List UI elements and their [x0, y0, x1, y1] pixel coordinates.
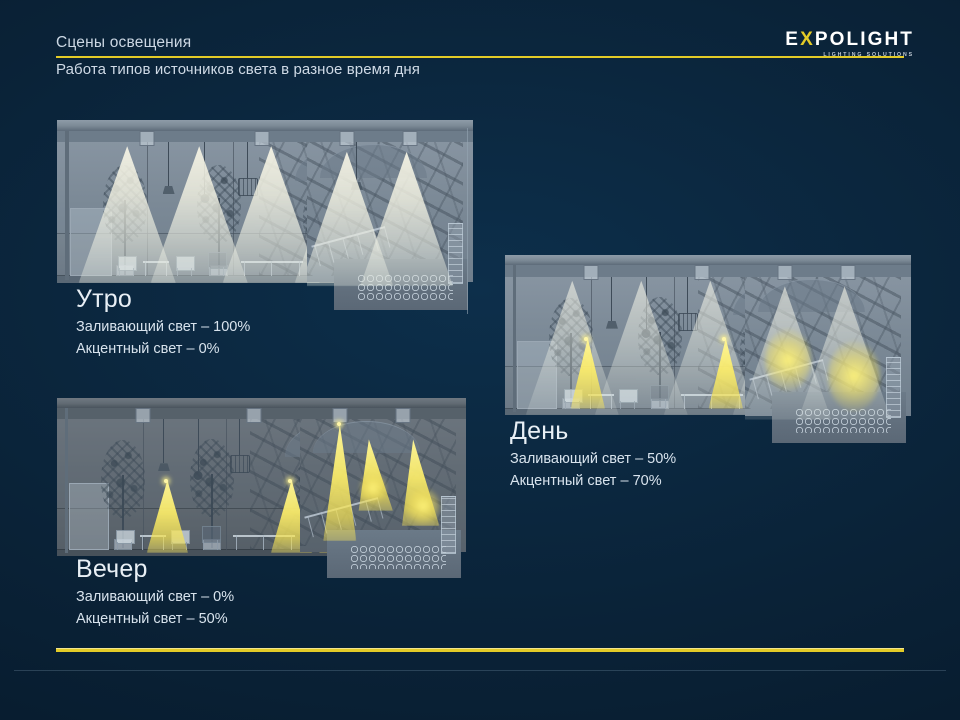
table: [588, 394, 614, 409]
chair: [171, 530, 188, 550]
accent-source-point: [164, 479, 168, 483]
service-tower: [886, 357, 901, 418]
ceiling-fixture-box: [246, 408, 261, 423]
chair: [116, 530, 133, 550]
chair: [650, 385, 667, 409]
ceiling-fixture-box: [584, 265, 599, 280]
caption-evening: Вечер Заливающий свет – 0% Акцентный све…: [76, 556, 234, 630]
flood-value-morning: Заливающий свет – 100%: [76, 316, 250, 338]
brand-logo: EXPOLIGHT LIGHTING SOLUTIONS: [785, 30, 914, 58]
edge-mullion: [467, 128, 468, 314]
accent-value-morning: Акцентный свет – 0%: [76, 338, 250, 360]
slide: Сцены освещения Работа типов источников …: [0, 0, 960, 720]
scene-title-day: День: [510, 418, 676, 444]
service-tower: [441, 496, 456, 554]
long-table: [681, 394, 743, 409]
logo-tagline: LIGHTING SOLUTIONS: [785, 53, 914, 58]
logo-accent-letter: X: [800, 29, 815, 50]
footer-accent-rule: [56, 648, 904, 652]
table: [143, 261, 169, 276]
ceiling-fixture-box: [332, 408, 347, 423]
accent-value-day: Акцентный свет – 70%: [510, 470, 676, 492]
table: [140, 535, 166, 550]
ceiling-fixture-box: [402, 131, 417, 146]
logo-text-part1: E: [785, 29, 800, 50]
ceiling-fixture-box: [136, 408, 151, 423]
chair: [202, 526, 219, 550]
chair: [176, 256, 193, 276]
accent-source-point: [584, 337, 588, 341]
logo-wordmark: EXPOLIGHT: [785, 30, 914, 49]
long-table: [241, 261, 303, 276]
scene-title-morning: Утро: [76, 286, 250, 312]
chair: [208, 252, 225, 276]
ceiling-fixture-box: [694, 265, 709, 280]
ceiling-fixture-box: [840, 265, 855, 280]
footer-divider: [14, 670, 946, 671]
ceiling-fixture-box: [395, 408, 410, 423]
long-table: [233, 535, 295, 550]
ceiling-fixture-box: [140, 131, 155, 146]
scene-title-evening: Вечер: [76, 556, 234, 582]
service-tower: [448, 223, 463, 284]
accent-source-point: [722, 337, 726, 341]
ceiling-fixture-box: [255, 131, 270, 146]
chair: [118, 256, 135, 276]
logo-text-part2: POLIGHT: [815, 29, 914, 50]
scene-image-evening-wing: [300, 398, 466, 586]
flood-value-day: Заливающий свет – 50%: [510, 448, 676, 470]
ceiling-fixture-box: [339, 131, 354, 146]
left-column: [65, 131, 69, 280]
balcony-balustrade: [350, 545, 446, 569]
balcony-balustrade: [795, 408, 891, 433]
page-title: Сцены освещения: [56, 34, 191, 52]
accent-value-evening: Акцентный свет – 50%: [76, 608, 234, 630]
scene-image-day-wing: [745, 255, 911, 451]
left-column: [65, 408, 69, 553]
caption-morning: Утро Заливающий свет – 100% Акцентный св…: [76, 286, 250, 360]
left-column: [513, 265, 517, 411]
caption-day: День Заливающий свет – 50% Акцентный све…: [510, 418, 676, 492]
title-underline: [56, 56, 904, 58]
slide-header: Сцены освещения Работа типов источников …: [0, 0, 960, 92]
balcony-balustrade: [357, 274, 453, 300]
flood-value-evening: Заливающий свет – 0%: [76, 586, 234, 608]
scene-image-morning-wing: [307, 120, 473, 318]
chair: [564, 389, 581, 409]
chair: [619, 389, 636, 409]
ceiling-fixture-box: [777, 265, 792, 280]
page-subtitle: Работа типов источников света в разное в…: [56, 61, 420, 78]
accent-source-point: [288, 479, 292, 483]
